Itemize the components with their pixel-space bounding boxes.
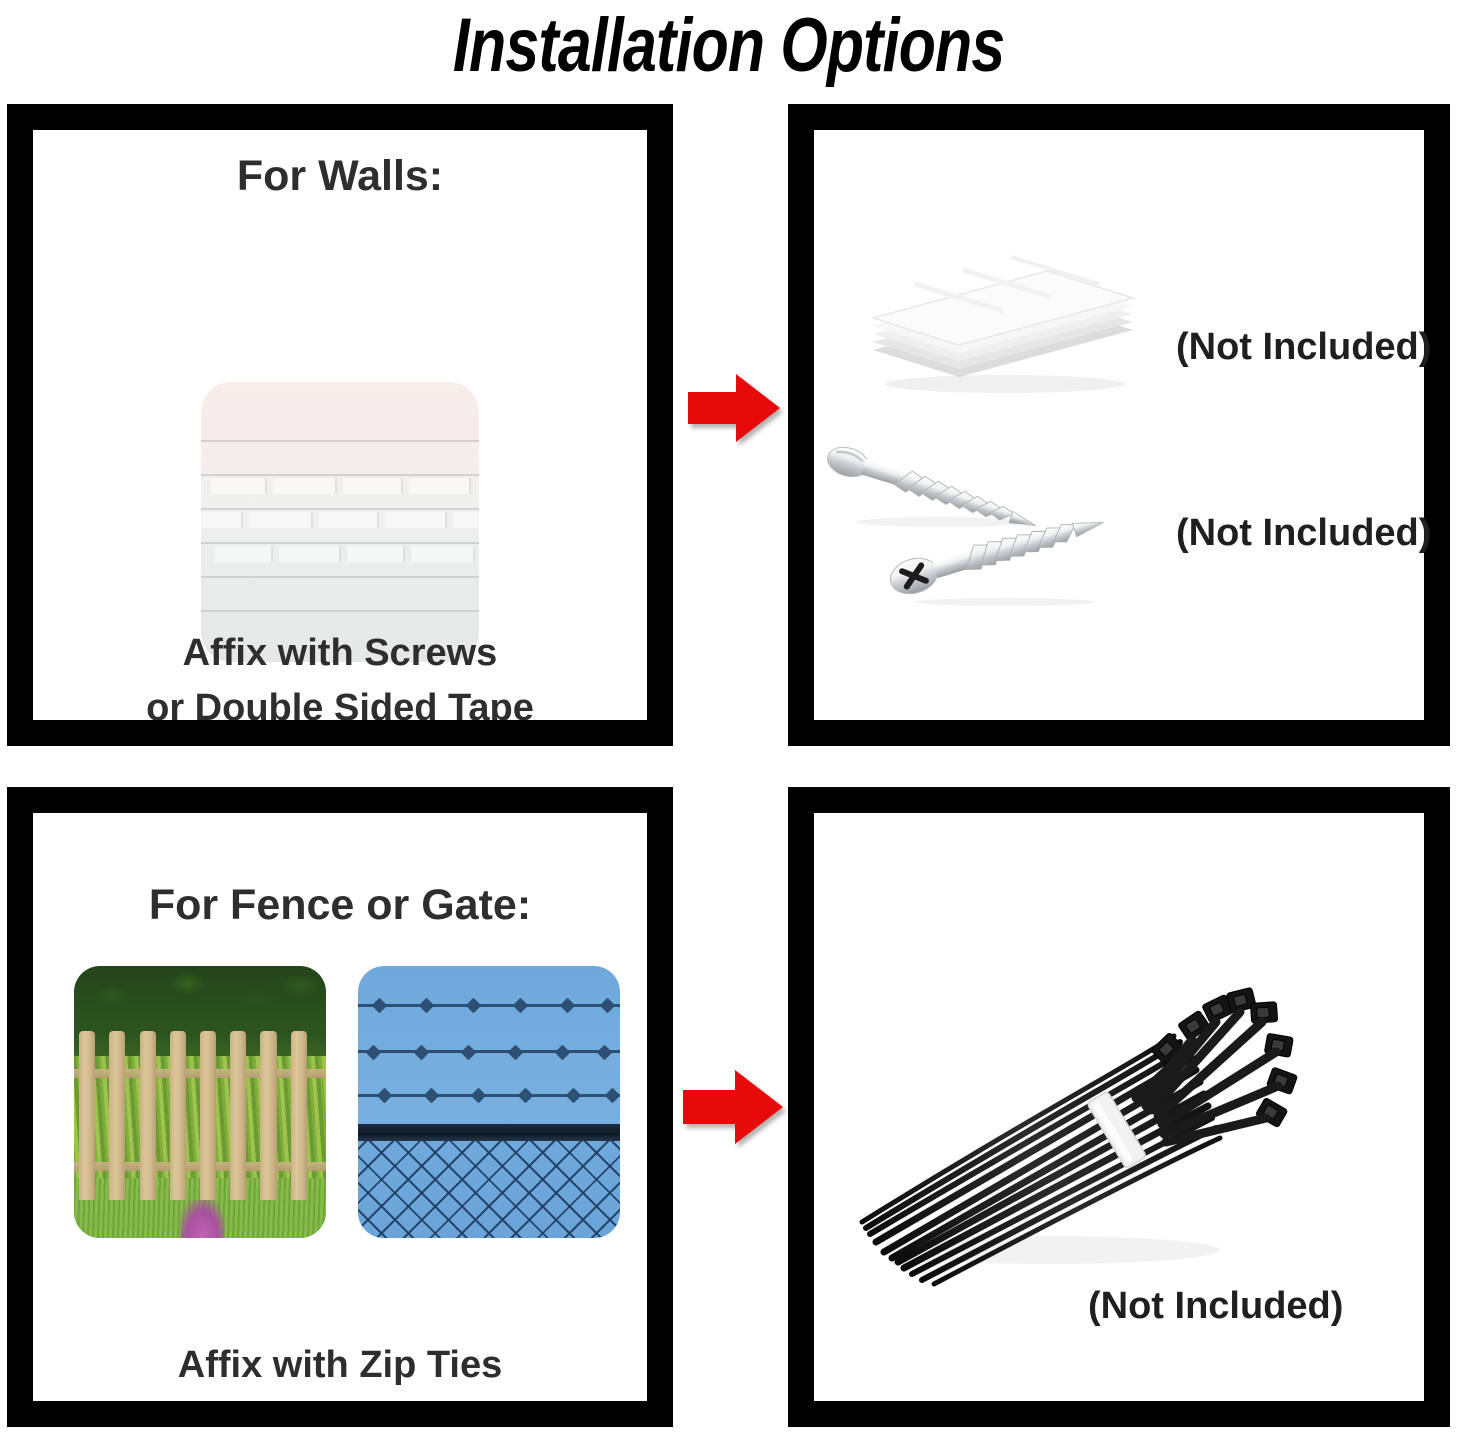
panel-for-walls: For Walls: Affix with Screws or D: [7, 104, 673, 746]
white-brick-wall-photo: [201, 382, 479, 662]
page-title: Installation Options: [453, 8, 1004, 84]
panel-for-fence-caption: Affix with Zip Ties: [33, 1338, 647, 1393]
not-included-label-screws: (Not Included): [1176, 512, 1431, 555]
caption-line-1: Affix with Screws: [33, 626, 647, 681]
silver-screw-lower: [880, 510, 1130, 606]
panel-for-walls-inner: For Walls: Affix with Screws or D: [33, 130, 647, 720]
arrow-right-icon-fence: [683, 1068, 783, 1146]
chain-link-barbed-wire-fence-photo: [358, 966, 620, 1238]
panel-for-walls-heading: For Walls:: [33, 152, 647, 201]
panel-wall-hardware-inner: [814, 130, 1424, 720]
double-sided-tape-stack: [855, 232, 1140, 397]
not-included-label-zipties: (Not Included): [1088, 1285, 1343, 1328]
arrow-right-icon-walls: [688, 372, 780, 444]
panel-wall-hardware: [788, 104, 1450, 746]
wooden-picket-fence-photo: [74, 966, 326, 1238]
panel-for-walls-caption: Affix with Screws or Double Sided Tape: [33, 626, 647, 720]
caption-line-2: or Double Sided Tape: [33, 681, 647, 720]
not-included-label-tape: (Not Included): [1176, 326, 1431, 369]
page-title-bar: Installation Options: [0, 0, 1457, 92]
panel-for-fence-heading: For Fence or Gate:: [33, 881, 647, 930]
black-zip-tie-bundle: [840, 890, 1320, 1290]
